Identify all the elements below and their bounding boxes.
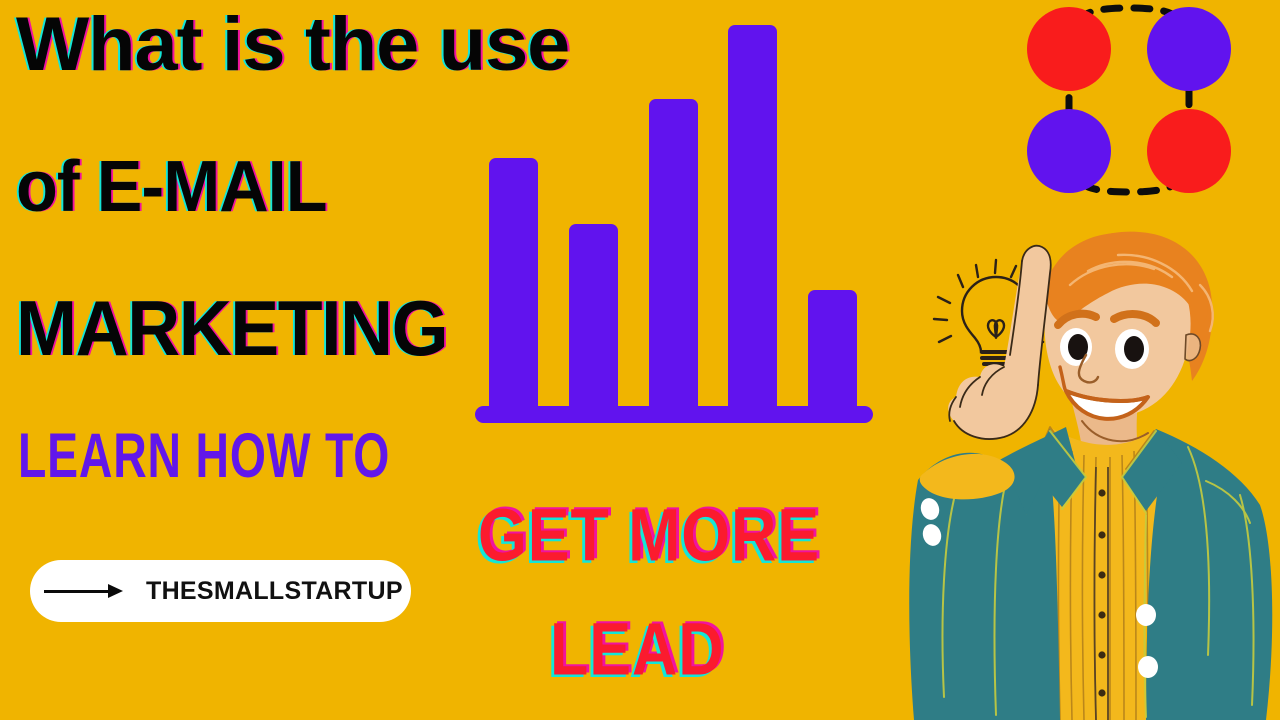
thumbnail-canvas: What is the use of E-MAIL MARKETING LEAR… <box>0 0 1280 720</box>
headline-line-3: MARKETING <box>16 290 447 366</box>
brand-name-label: THESMALLSTARTUP <box>146 577 403 606</box>
chart-baseline <box>475 406 873 423</box>
chart-bar <box>649 99 698 415</box>
chart-bar <box>728 25 777 415</box>
chart-bar <box>569 224 618 415</box>
chart-bar <box>489 158 538 415</box>
businessman-illustration <box>900 215 1280 720</box>
bar-chart <box>475 18 875 423</box>
callout-line-2: LEAD <box>550 612 724 686</box>
arrow-right-icon <box>44 580 126 602</box>
subheadline: LEARN HOW TO <box>18 425 390 488</box>
chart-bar <box>808 290 857 415</box>
four-dots-dashed-square-icon <box>1022 2 1236 198</box>
headline-line-2: of E-MAIL <box>16 152 327 223</box>
brand-cta-pill[interactable]: THESMALLSTARTUP <box>30 560 411 622</box>
callout-line-1: GET MORE <box>478 498 820 572</box>
